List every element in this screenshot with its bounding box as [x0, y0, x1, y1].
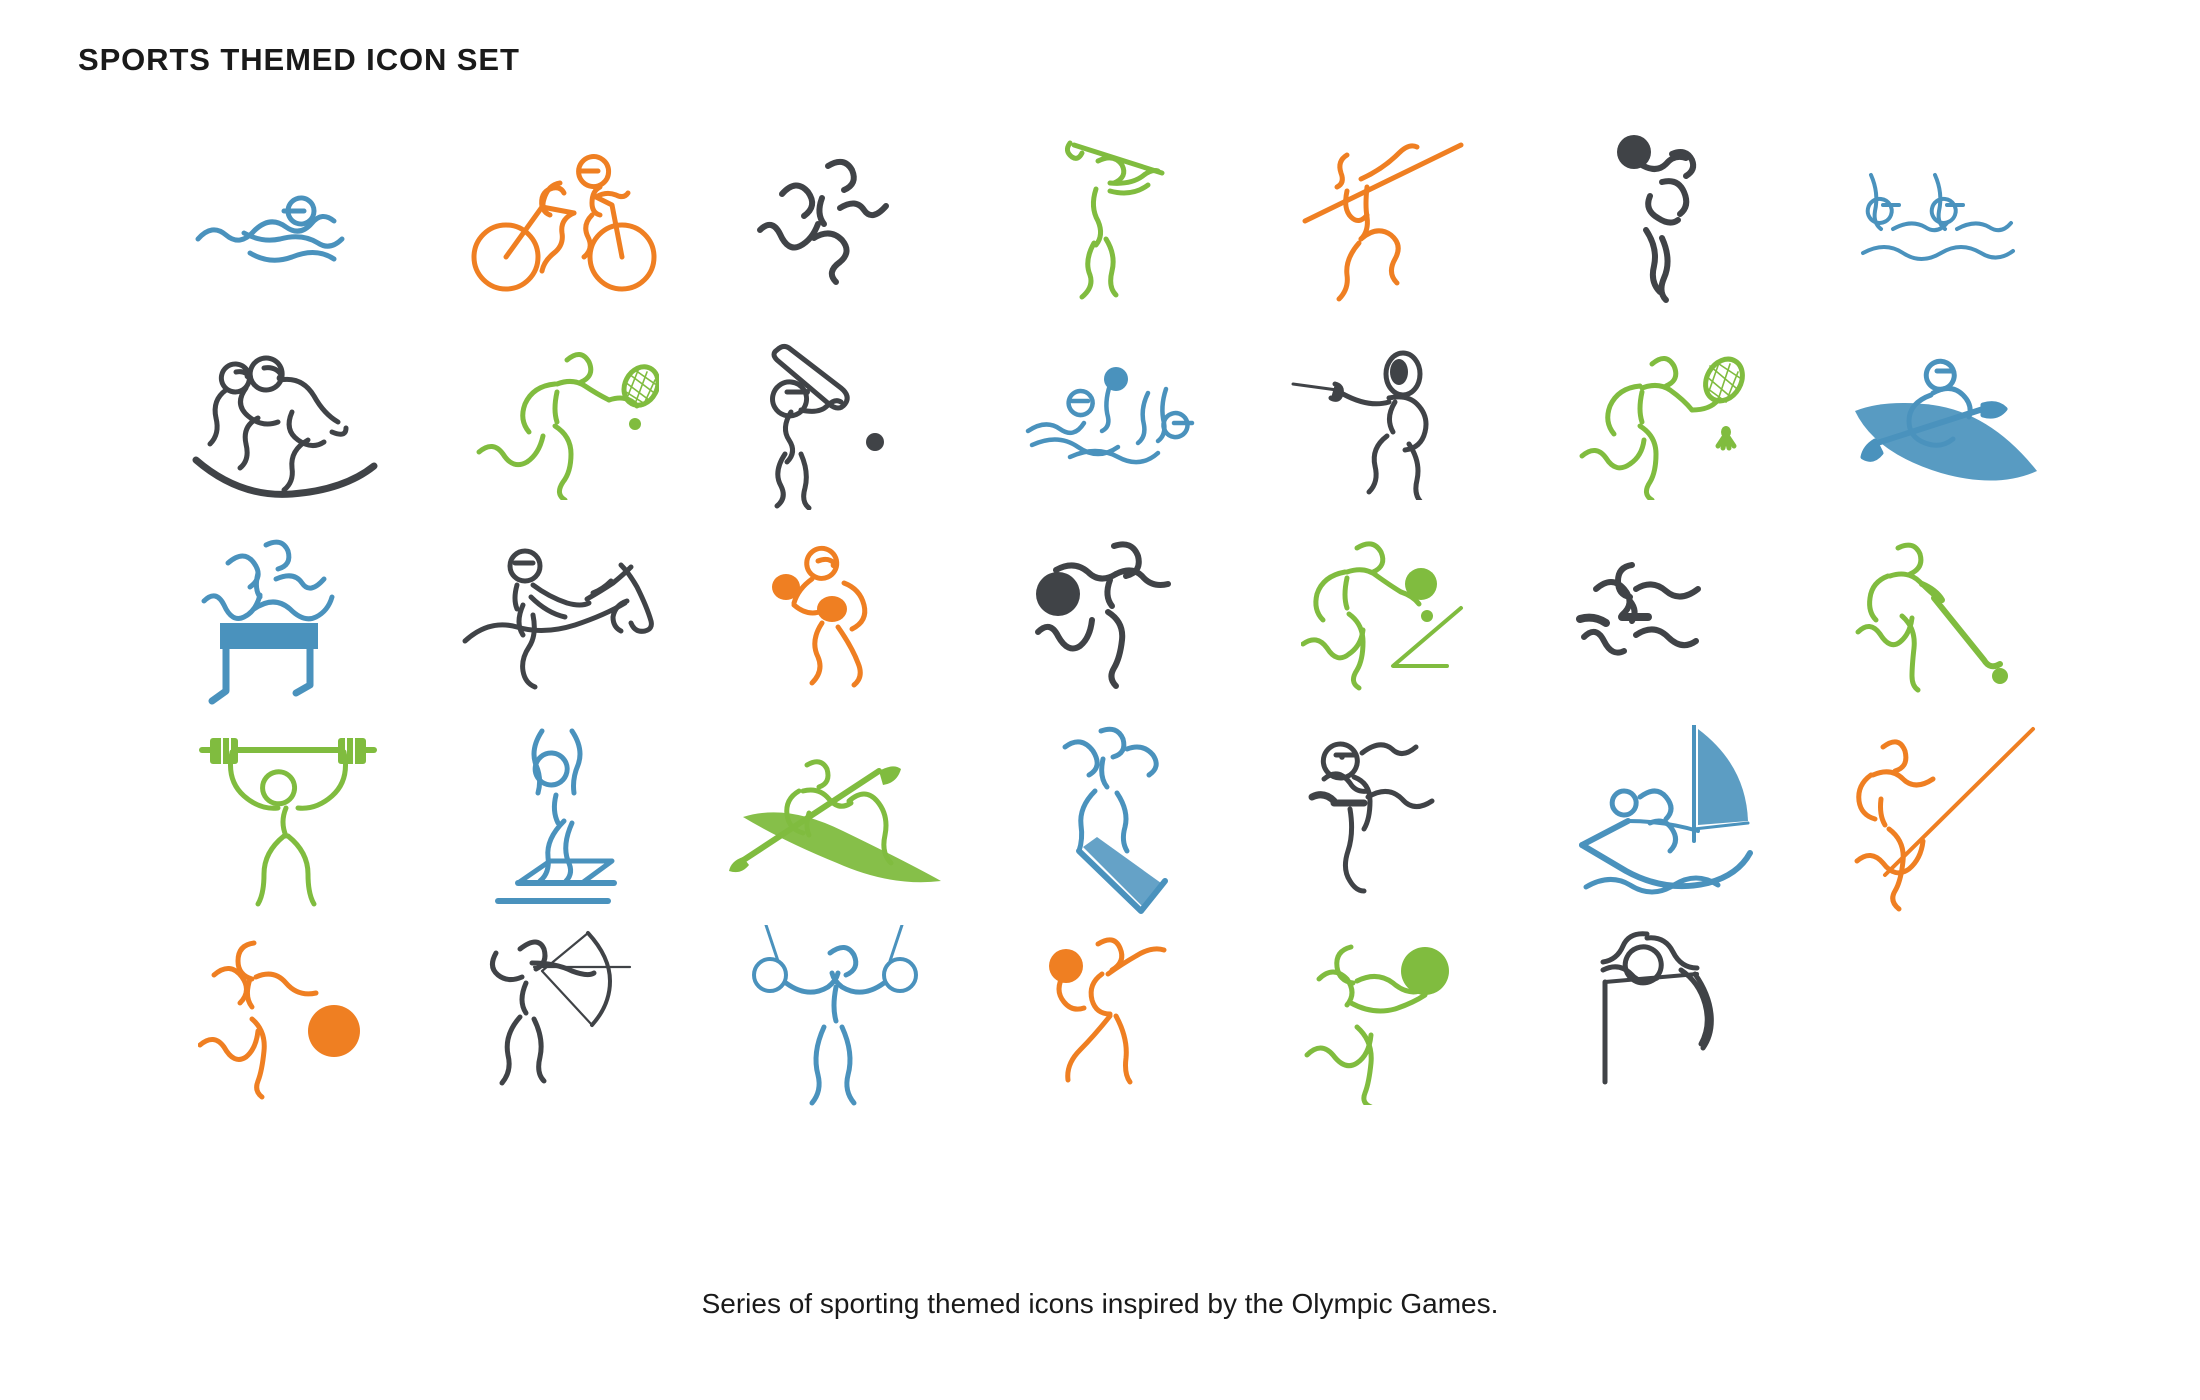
icon-fencing[interactable]	[1253, 320, 1529, 520]
icon-basketball[interactable]	[150, 920, 426, 1120]
icon-ski-jumping[interactable]	[977, 720, 1253, 920]
icon-boxing[interactable]	[701, 520, 977, 720]
icon-tennis[interactable]	[426, 320, 702, 520]
page-title: SPORTS THEMED ICON SET	[78, 42, 520, 78]
icon-gymnastics-rings[interactable]	[701, 920, 977, 1120]
icon-baseball[interactable]	[701, 320, 977, 520]
icon-kayaking[interactable]	[1804, 320, 2080, 520]
icon-volleyball[interactable]	[1528, 120, 1804, 320]
icon-high-jump[interactable]	[1528, 920, 1804, 1120]
icon-handball[interactable]	[1253, 920, 1529, 1120]
icon-figure-skating[interactable]	[1253, 720, 1529, 920]
icon-javelin[interactable]	[1253, 120, 1529, 320]
icon-wrestling[interactable]	[150, 320, 426, 520]
icon-equestrian[interactable]	[426, 520, 702, 720]
icon-hurdles[interactable]	[150, 520, 426, 720]
icon-rowing[interactable]	[701, 720, 977, 920]
icon-golf[interactable]	[977, 120, 1253, 320]
icon-diving[interactable]	[426, 720, 702, 920]
icon-shot-put[interactable]	[977, 920, 1253, 1120]
icon-running[interactable]	[701, 120, 977, 320]
icon-synchronized-swimming[interactable]	[1804, 120, 2080, 320]
icon-table-tennis[interactable]	[1253, 520, 1529, 720]
icon-swimming-freestyle[interactable]	[1528, 520, 1804, 720]
icon-field-hockey[interactable]	[1804, 520, 2080, 720]
icon-weightlifting[interactable]	[150, 720, 426, 920]
icon-water-polo[interactable]	[977, 320, 1253, 520]
icon-cycling[interactable]	[426, 120, 702, 320]
icon-grid	[150, 120, 2080, 1120]
icon-swimming[interactable]	[150, 120, 426, 320]
icon-soccer[interactable]	[977, 520, 1253, 720]
icon-sailing[interactable]	[1528, 720, 1804, 920]
icon-badminton[interactable]	[1528, 320, 1804, 520]
icon-archery[interactable]	[426, 920, 702, 1120]
caption: Series of sporting themed icons inspired…	[0, 1288, 2200, 1320]
icon-pole-vault[interactable]	[1804, 720, 2080, 920]
